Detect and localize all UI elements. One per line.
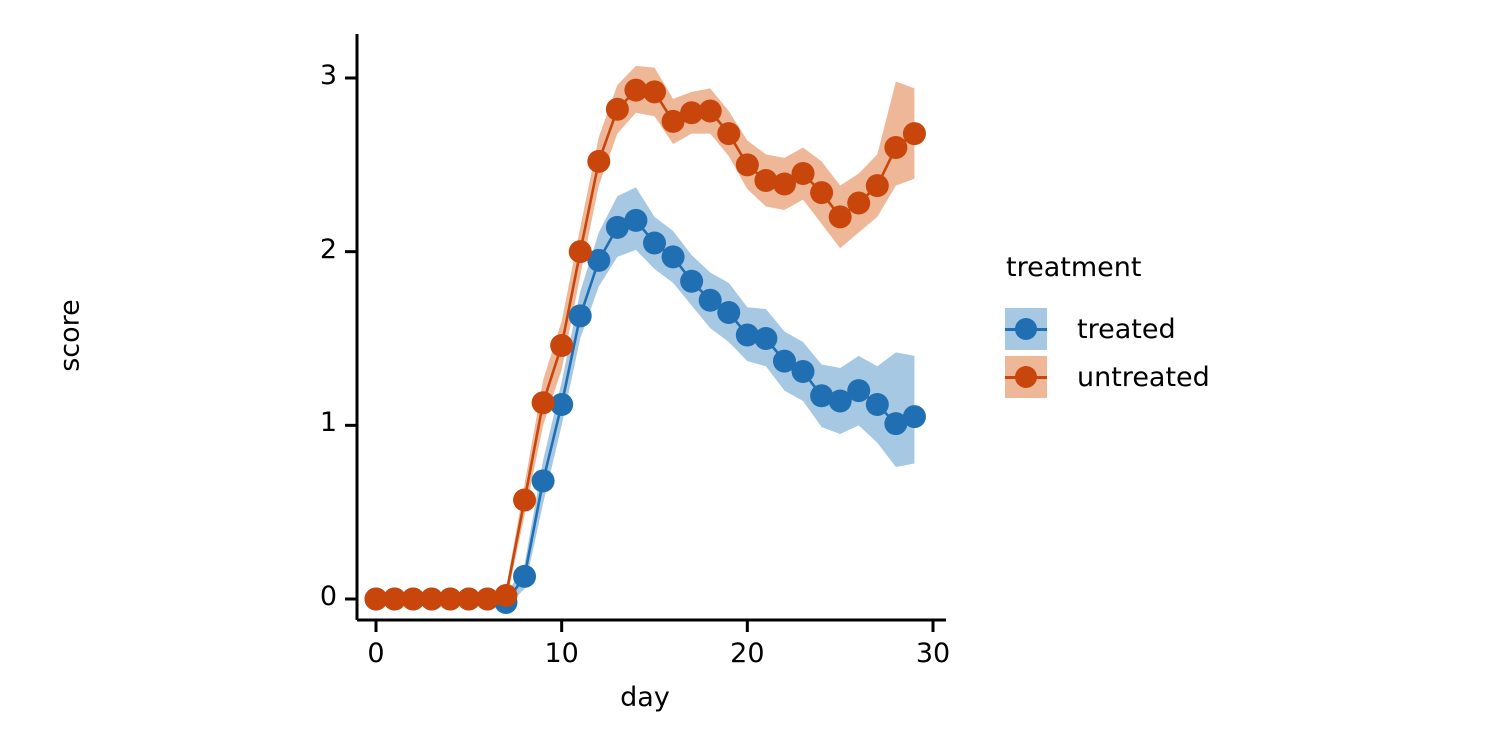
confidence-band-untreated [376,66,914,603]
legend-swatch-untreated [1005,356,1047,398]
data-point-treated [680,270,703,293]
legend-marker-icon [1015,366,1037,388]
x-tick-label: 10 [522,638,602,669]
data-point-untreated [903,122,926,145]
data-point-untreated [513,489,536,512]
legend-label: treated [1077,314,1176,345]
x-tick-label: 30 [893,638,973,669]
legend-swatch-treated [1005,308,1047,350]
data-point-untreated [494,584,517,607]
data-point-untreated [866,174,889,197]
plot-canvas [0,0,1000,750]
data-point-treated [754,327,777,350]
data-point-untreated [847,192,870,215]
y-tick-label: 0 [277,581,337,612]
data-point-untreated [699,100,722,123]
data-point-untreated [829,205,852,228]
data-point-untreated [569,240,592,263]
data-point-untreated [550,334,573,357]
x-axis-title: day [0,682,1290,713]
data-point-treated [569,304,592,327]
line-untreated [376,90,914,599]
y-tick-label: 1 [277,407,337,438]
data-point-treated [866,393,889,416]
legend-label: untreated [1077,362,1210,393]
confidence-bands [376,66,914,608]
axis-spines [357,34,946,620]
legend-marker-icon [1015,318,1037,340]
legend-entry-treated[interactable]: treated [1005,305,1405,353]
data-point-untreated [810,181,833,204]
x-tick-label: 20 [707,638,787,669]
data-point-treated [513,565,536,588]
data-point-untreated [643,80,666,103]
legend-entries: treateduntreated [1005,305,1405,401]
y-axis-title: score [55,246,86,426]
x-tick-label: 0 [336,638,416,669]
legend-entry-untreated[interactable]: untreated [1005,353,1405,401]
data-point-untreated [587,150,610,173]
axis-ticks [345,78,933,632]
data-point-untreated [606,98,629,121]
data-point-untreated [792,162,815,185]
data-point-treated [532,469,555,492]
y-tick-label: 3 [277,60,337,91]
legend-title: treatment [1005,252,1405,283]
data-point-treated [643,231,666,254]
data-point-treated [903,405,926,428]
data-point-treated [717,301,740,324]
series-lines [376,90,914,602]
data-point-untreated [884,136,907,159]
data-point-untreated [532,391,555,414]
data-point-untreated [736,153,759,176]
data-point-treated [792,360,815,383]
data-point-untreated [717,122,740,145]
data-point-treated [624,209,647,232]
legend: treatment treateduntreated [1005,252,1405,401]
data-point-treated [662,245,685,268]
data-point-treated [847,379,870,402]
chart-root: day score 0102030 0123 treatment treated… [0,0,1500,750]
series-markers [365,79,926,614]
y-tick-label: 2 [277,234,337,265]
figure-panel: day score 0102030 0123 [0,0,1000,750]
